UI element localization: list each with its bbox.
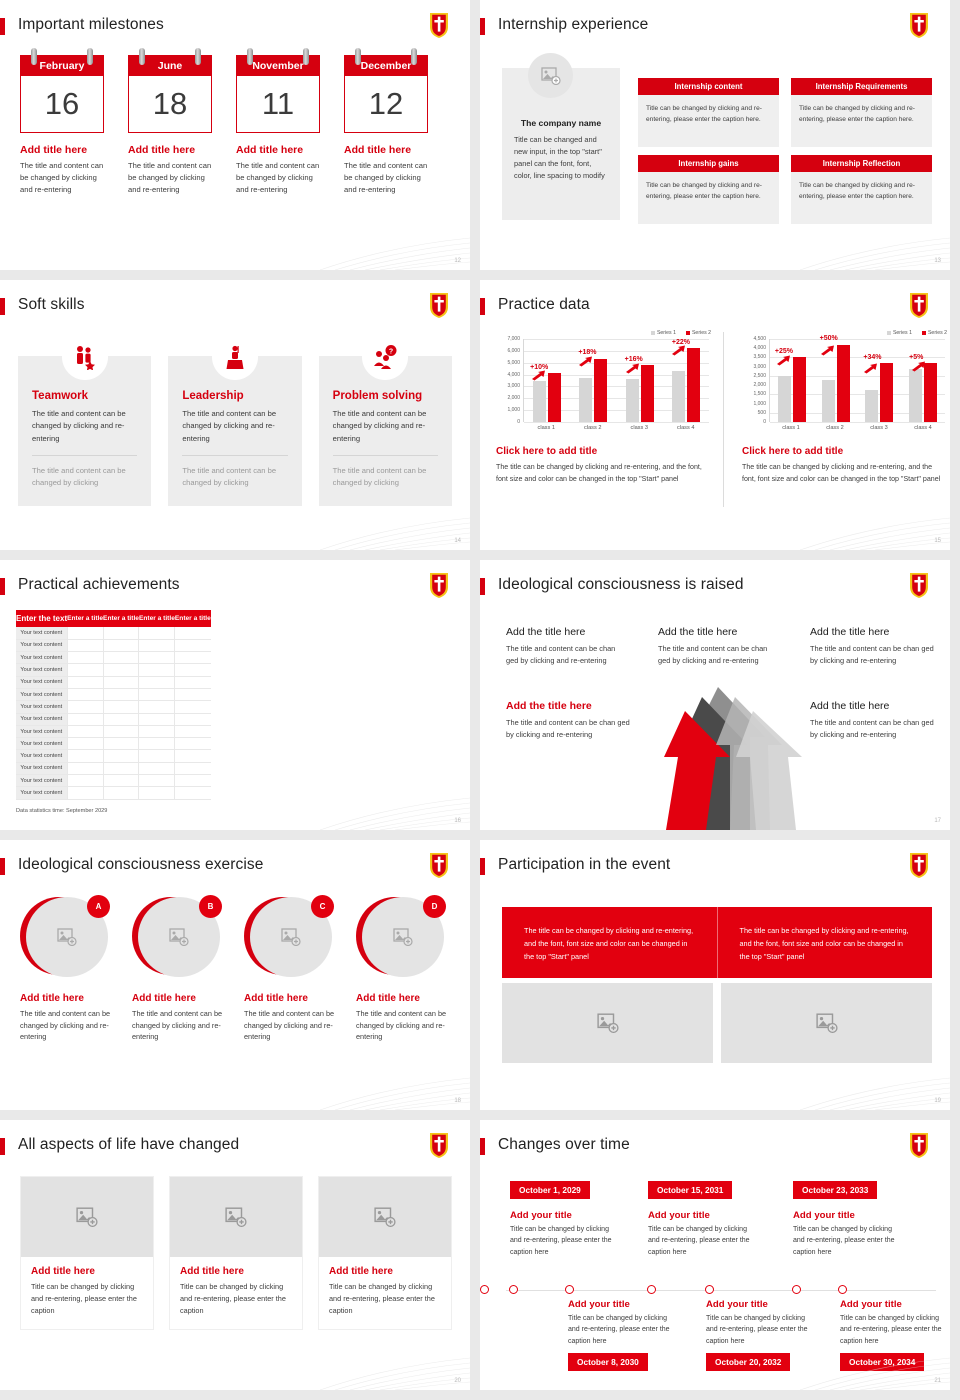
table-cell[interactable] [139,627,175,639]
bar-group: +16% [626,339,654,422]
table-row[interactable]: Your text content [16,639,211,651]
calendar-card: February 16 [20,55,104,133]
y-tick: 3,000 [753,364,766,370]
timeline-title: Add your title [793,1210,905,1221]
bar-annotation: +34% [863,354,881,361]
banner-text-left: The title can be changed by clicking and… [502,907,717,978]
bar-series-2 [837,345,850,422]
y-tick: 4,000 [507,372,520,378]
table-cell[interactable] [175,775,211,787]
block-text: The title and content can be chan ged by… [810,643,935,667]
table-cell[interactable] [139,701,175,713]
bar-series-1 [579,378,592,422]
y-tick: 7,000 [507,336,520,342]
table-cell[interactable] [175,676,211,688]
calendar-card: June 18 [128,55,212,133]
slide-all-aspects-of-life[interactable]: All aspects of life have changed [0,1120,470,1390]
timeline-title: Add your title [648,1210,760,1221]
teamwork-icon [62,334,108,380]
skill-name: Teamwork [32,390,137,402]
item-desc: The title and content can be changed by … [356,1008,448,1043]
table-cell[interactable] [103,750,139,762]
internship-card-head: Internship gains [638,155,779,172]
shield-cross-logo-icon [430,853,448,878]
skill-card[interactable]: Teamwork The title and content can be ch… [18,356,151,506]
exercise-item[interactable]: A Add title here The title and content c… [20,895,112,1043]
table-cell-label: Your text content [16,627,67,639]
y-tick: 4,000 [753,345,766,351]
calendar-ring-icon [139,48,145,65]
slide-internship-experience[interactable]: Internship experience The company name T… [480,0,950,270]
table-cell[interactable] [175,639,211,651]
y-tick: 1,500 [753,391,766,397]
timeline-date-chip: October 8, 2030 [568,1353,648,1371]
milestone-item[interactable]: February 16 Add title here The title and… [20,55,112,195]
table-cell[interactable] [67,713,103,725]
wave-decoration [240,200,470,270]
table-cell[interactable] [103,787,139,799]
y-tick: 3,500 [753,354,766,360]
table-cell[interactable] [175,725,211,737]
y-tick: 500 [758,410,766,416]
y-tick: 1,000 [753,401,766,407]
content-block[interactable]: Add the title here The title and content… [810,700,935,741]
table-row[interactable]: Your text content [16,652,211,664]
legend-label: Series 1 [893,330,912,336]
milestone-desc: The title and content can be changed by … [20,160,104,195]
slide-important-milestones[interactable]: Important milestones February 16 Add tit… [0,0,470,270]
achievements-table[interactable]: Enter the text Enter a title Enter a tit… [16,610,211,800]
internship-card-head: Internship content [638,78,779,95]
table-cell-label: Your text content [16,664,67,676]
svg-text:?: ? [389,349,393,356]
title-accent-bar [0,578,5,595]
slide-practice-data[interactable]: Practice data Series 1 Series 2 0 1,000 … [480,280,950,550]
table-cell-label: Your text content [16,762,67,774]
calendar-ring-icon [303,48,309,65]
table-cell[interactable] [103,738,139,750]
block-heading: Add the title here [810,626,935,638]
timeline-date-chip: October 30, 2034 [840,1353,924,1371]
table-cell[interactable] [175,627,211,639]
exercise-item[interactable]: D Add title here The title and content c… [356,895,448,1043]
block-heading: Add the title here [658,626,778,638]
timeline-desc: Title can be changed by clicking and re-… [568,1313,680,1347]
page-number: 20 [454,1378,461,1384]
image-placeholder-icon[interactable] [21,1177,153,1257]
table-cell[interactable] [103,676,139,688]
card-title: Add title here [180,1266,292,1277]
item-title: Add title here [132,993,224,1004]
timeline-date-chip: October 23, 2033 [793,1181,877,1199]
milestone-item[interactable]: November 11 Add title here The title and… [236,55,328,195]
table-cell[interactable] [139,713,175,725]
shield-cross-logo-icon [430,1133,448,1158]
growth-arrow-icon [776,355,791,366]
calendar-day: 16 [21,76,103,132]
calendar-card: November 11 [236,55,320,133]
table-row[interactable]: Your text content [16,627,211,639]
table-cell[interactable] [175,750,211,762]
x-tick: class 4 [677,425,694,431]
chart-right[interactable]: Series 1 Series 2 0 500 1,000 1,500 2,00… [742,330,947,486]
table-cell-label: Your text content [16,725,67,737]
skill-card-row: Teamwork The title and content can be ch… [18,356,452,506]
table-cell[interactable] [139,664,175,676]
table-cell[interactable] [103,688,139,700]
slide-practical-achievements[interactable]: Practical achievements Enter the text En… [0,560,470,830]
table-cell[interactable] [175,738,211,750]
table-header-cell: Enter the text [16,610,67,627]
title-accent-bar [0,18,5,35]
x-tick: class 2 [584,425,601,431]
table-row[interactable]: Your text content [16,713,211,725]
table-cell[interactable] [139,762,175,774]
wave-decoration [720,480,950,550]
internship-card-text: Title can be changed by clicking and re-… [791,95,932,147]
table-cell-label: Your text content [16,639,67,651]
table-cell[interactable] [139,688,175,700]
image-placeholder-row [502,983,932,1063]
bar-series-1 [909,369,922,422]
block-heading: Add the title here [506,700,631,712]
milestone-title: Add title here [128,144,220,156]
table-cell[interactable] [67,627,103,639]
table-row[interactable]: Your text content [16,787,211,799]
block-heading: Add the title here [506,626,626,638]
exercise-item[interactable]: B Add title here The title and content c… [132,895,224,1043]
content-block[interactable]: Add the title here The title and content… [810,626,935,667]
x-tick: class 3 [870,425,887,431]
item-desc: The title and content can be changed by … [244,1008,336,1043]
page-number: 17 [934,818,941,824]
internship-card[interactable]: Internship content Title can be changed … [638,78,779,147]
growth-arrow-icon [863,363,878,374]
table-cell[interactable] [67,750,103,762]
calendar-day: 11 [237,76,319,132]
title-accent-bar [480,578,485,595]
item-badge: C [311,895,334,918]
table-cell[interactable] [139,639,175,651]
content-block[interactable]: Add the title here The title and content… [506,626,626,667]
table-row[interactable]: Your text content [16,738,211,750]
chart-divider [723,332,724,507]
timeline-item-top[interactable]: October 15, 2031 Add your title Title ca… [648,1180,760,1258]
title-accent-bar [0,858,5,875]
block-heading: Add the title here [810,700,935,712]
internship-card-text: Title can be changed by clicking and re-… [791,172,932,224]
table-cell[interactable] [175,701,211,713]
table-row[interactable]: Your text content [16,701,211,713]
table-row[interactable]: Your text content [16,664,211,676]
chart-caption-desc: The title can be changed by clicking and… [742,461,947,486]
page-title: Ideological consciousness exercise [18,856,264,874]
table-cell[interactable] [67,787,103,799]
table-cell[interactable] [67,775,103,787]
company-name: The company name [502,118,620,128]
shield-cross-logo-icon [910,13,928,38]
calendar-ring-icon [31,48,37,65]
image-placeholder-icon[interactable] [170,1177,302,1257]
table-cell[interactable] [175,664,211,676]
milestone-desc: The title and content can be changed by … [128,160,212,195]
calendar-ring-icon [355,48,361,65]
table-cell-label: Your text content [16,713,67,725]
block-text: The title and content can be chan ged by… [506,717,631,741]
x-tick: class 1 [538,425,555,431]
calendar-ring-icon [87,48,93,65]
x-tick: class 1 [782,425,799,431]
x-axis-labels: class 1 class 2 class 3 class 4 [769,422,945,434]
x-tick: class 4 [914,425,931,431]
table-cell[interactable] [103,713,139,725]
growth-arrow-icon [911,361,926,372]
table-cell[interactable] [103,627,139,639]
shield-cross-logo-icon [910,293,928,318]
table-cell[interactable] [175,713,211,725]
internship-card-head: Internship Reflection [791,155,932,172]
table-cell[interactable] [103,775,139,787]
item-badge: A [87,895,110,918]
table-cell[interactable] [175,652,211,664]
milestone-item[interactable]: June 18 Add title here The title and con… [128,55,220,195]
milestone-title: Add title here [236,144,328,156]
block-text: The title and content can be chan ged by… [658,643,778,667]
y-tick: 4,500 [753,336,766,342]
timeline-item-top[interactable]: October 1, 2029 Add your title Title can… [510,1180,622,1258]
item-title: Add title here [244,993,336,1004]
table-cell[interactable] [139,652,175,664]
y-axis: 0 1,000 2,000 3,000 4,000 5,000 6,000 7,… [496,339,522,422]
table-cell[interactable] [67,652,103,664]
skill-desc-secondary: The title and content can be changed by … [182,465,287,490]
internship-card-grid: Internship content Title can be changed … [638,78,932,224]
internship-card-text: Title can be changed by clicking and re-… [638,95,779,147]
skill-card[interactable]: ? Problem solving The title and content … [319,356,452,506]
block-text: The title and content can be chan ged by… [810,717,935,741]
table-cell[interactable] [67,639,103,651]
table-cell[interactable] [139,775,175,787]
page-title: Ideological consciousness is raised [498,576,744,594]
slide-ideological-consciousness-exercise[interactable]: Ideological consciousness exercise [0,840,470,1110]
chart-bars: +10% +18% [524,339,709,422]
table-cell[interactable] [139,725,175,737]
calendar-day: 18 [129,76,211,132]
skill-card[interactable]: Leadership The title and content can be … [168,356,301,506]
bar-series-1 [626,379,639,422]
internship-card-head: Internship Requirements [791,78,932,95]
aspect-card[interactable]: Add title here Title can be changed by c… [20,1176,154,1330]
table-cell[interactable] [67,688,103,700]
bar-series-2 [594,359,607,422]
slide-ideological-consciousness-raised[interactable]: Ideological consciousness is raised Add … [480,560,950,830]
page-title: Internship experience [498,16,648,34]
milestone-title: Add title here [20,144,112,156]
table-body: Your text contentYour text contentYour t… [16,627,211,799]
bar-series-2 [687,348,700,422]
page-title: Soft skills [18,296,85,314]
skill-name: Problem solving [333,390,438,402]
page-title: All aspects of life have changed [18,1136,239,1154]
bar-group: +25% [778,339,806,422]
legend-item-series-1: Series 1 [887,330,912,336]
timeline-item-top[interactable]: October 23, 2033 Add your title Title ca… [793,1180,905,1258]
image-placeholder-icon[interactable] [721,983,932,1063]
table-cell[interactable] [139,738,175,750]
chart-legend: Series 1 Series 2 [496,330,711,336]
table-cell[interactable] [67,725,103,737]
slide-thumbnail-grid: Important milestones February 16 Add tit… [0,0,960,1390]
table-header-cell: Enter a title [175,610,211,627]
slide-changes-over-time[interactable]: Changes over time October 1, 2029 Add yo… [480,1120,950,1390]
x-tick: class 2 [826,425,843,431]
table-row[interactable]: Your text content [16,688,211,700]
timeline-title: Add your title [706,1299,818,1310]
timeline-date-chip: October 1, 2029 [510,1181,590,1199]
growth-arrow-icon [625,363,640,374]
slide-participation-in-the-event[interactable]: Participation in the event The title can… [480,840,950,1110]
page-title: Changes over time [498,1136,630,1154]
table-cell[interactable] [175,688,211,700]
table-cell[interactable] [103,639,139,651]
skill-desc-primary: The title and content can be changed by … [32,408,137,456]
internship-card[interactable]: Internship gains Title can be changed by… [638,155,779,224]
bar-series-2 [548,373,561,422]
table-cell[interactable] [139,750,175,762]
table-cell-label: Your text content [16,652,67,664]
table-footnote: Data statistics time: September 2029 [16,808,107,814]
timeline-dot [509,1285,518,1294]
table-cell[interactable] [175,787,211,799]
page-title: Important milestones [18,16,164,34]
internship-card-text: Title can be changed by clicking and re-… [638,172,779,224]
table-cell[interactable] [103,701,139,713]
company-desc: Title can be changed and new input, in t… [514,134,610,182]
table-cell[interactable] [103,762,139,774]
timeline-dot [480,1285,489,1294]
bar-group: +34% [865,339,893,422]
shield-cross-logo-icon [430,293,448,318]
table-row[interactable]: Your text content [16,762,211,774]
milestone-item[interactable]: December 12 Add title here The title and… [344,55,436,195]
growth-arrow-icon [578,356,593,367]
content-block-accent[interactable]: Add the title here The title and content… [506,700,631,741]
aspect-card[interactable]: Add title here Title can be changed by c… [318,1176,452,1330]
internship-card[interactable]: Internship Requirements Title can be cha… [791,78,932,147]
bar-series-2 [880,363,893,422]
milestone-title: Add title here [344,144,436,156]
page-title: Practice data [498,296,590,314]
table-row[interactable]: Your text content [16,750,211,762]
aspect-card[interactable]: Add title here Title can be changed by c… [169,1176,303,1330]
page-number: 21 [934,1378,941,1384]
x-axis-labels: class 1 class 2 class 3 class 4 [523,422,709,434]
skill-desc-secondary: The title and content can be changed by … [32,465,137,490]
item-badge: D [423,895,446,918]
bar-annotation: +25% [775,348,793,355]
y-tick: 2,000 [507,395,520,401]
chart-caption-title: Click here to add title [742,446,947,457]
table-row[interactable]: Your text content [16,725,211,737]
table-cell[interactable] [67,738,103,750]
exercise-item-row: A Add title here The title and content c… [20,895,456,1043]
image-placeholder-icon[interactable] [319,1177,451,1257]
y-tick: 2,500 [753,373,766,379]
bar-group: +5% [909,339,937,422]
timeline-item-bottom[interactable]: Add your title Title can be changed by c… [840,1288,950,1371]
legend-label: Series 2 [692,330,711,336]
table-cell-label: Your text content [16,676,67,688]
bar-series-2 [793,357,806,422]
title-accent-bar [0,298,5,315]
bar-group: +50% [822,339,850,422]
y-tick: 0 [763,419,766,425]
legend-label: Series 2 [928,330,947,336]
image-placeholder-icon[interactable] [528,53,573,98]
slide-soft-skills[interactable]: Soft skills Teamwork The title a [0,280,470,550]
page-number: 14 [454,538,461,544]
chart-caption-title: Click here to add title [496,446,711,457]
image-placeholder-icon[interactable] [502,983,713,1063]
block-text: The title and content can be chan ged by… [506,643,626,667]
wave-decoration [240,1040,470,1110]
table-cell[interactable] [67,762,103,774]
problem-solving-icon: ? [362,334,408,380]
timeline-item-bottom[interactable]: Add your title Title can be changed by c… [706,1288,818,1371]
x-tick: class 3 [631,425,648,431]
wave-decoration [240,1320,470,1390]
table-cell[interactable] [175,762,211,774]
calendar-day: 12 [345,76,427,132]
page-title: Practical achievements [18,576,180,594]
wave-decoration [240,760,470,830]
table-cell[interactable] [103,725,139,737]
table-cell[interactable] [139,676,175,688]
table-cell-label: Your text content [16,701,67,713]
timeline-item-bottom[interactable]: Add your title Title can be changed by c… [568,1288,680,1371]
red-banner[interactable]: The title can be changed by clicking and… [502,907,932,978]
table-cell[interactable] [67,664,103,676]
y-axis: 0 500 1,000 1,500 2,000 2,500 3,000 3,50… [742,339,768,422]
table-cell[interactable] [139,787,175,799]
title-accent-bar [480,18,485,35]
chart-plot: 0 500 1,000 1,500 2,000 2,500 3,000 3,50… [742,339,947,434]
page-number: 18 [454,1098,461,1104]
table-row[interactable]: Your text content [16,676,211,688]
milestone-desc: The title and content can be changed by … [344,160,428,195]
exercise-item[interactable]: C Add title here The title and content c… [244,895,336,1043]
internship-card[interactable]: Internship Reflection Title can be chang… [791,155,932,224]
item-title: Add title here [20,993,112,1004]
timeline-desc: Title can be changed by clicking and re-… [706,1313,818,1347]
page-number: 19 [934,1098,941,1104]
table-header-cell: Enter a title [139,610,175,627]
title-accent-bar [480,1138,485,1155]
table-cell[interactable] [67,701,103,713]
table-cell[interactable] [67,676,103,688]
content-block[interactable]: Add the title here The title and content… [658,626,778,667]
y-tick: 3,000 [507,383,520,389]
table-row[interactable]: Your text content [16,775,211,787]
bar-group: +10% [533,339,561,422]
table-cell[interactable] [103,664,139,676]
timeline-title: Add your title [840,1299,950,1310]
chart-left[interactable]: Series 1 Series 2 0 1,000 2,000 3,000 4,… [496,330,711,486]
shield-cross-logo-icon [430,13,448,38]
calendar-ring-icon [411,48,417,65]
card-desc: Title can be changed by clicking and re-… [180,1281,292,1317]
table-cell[interactable] [103,652,139,664]
